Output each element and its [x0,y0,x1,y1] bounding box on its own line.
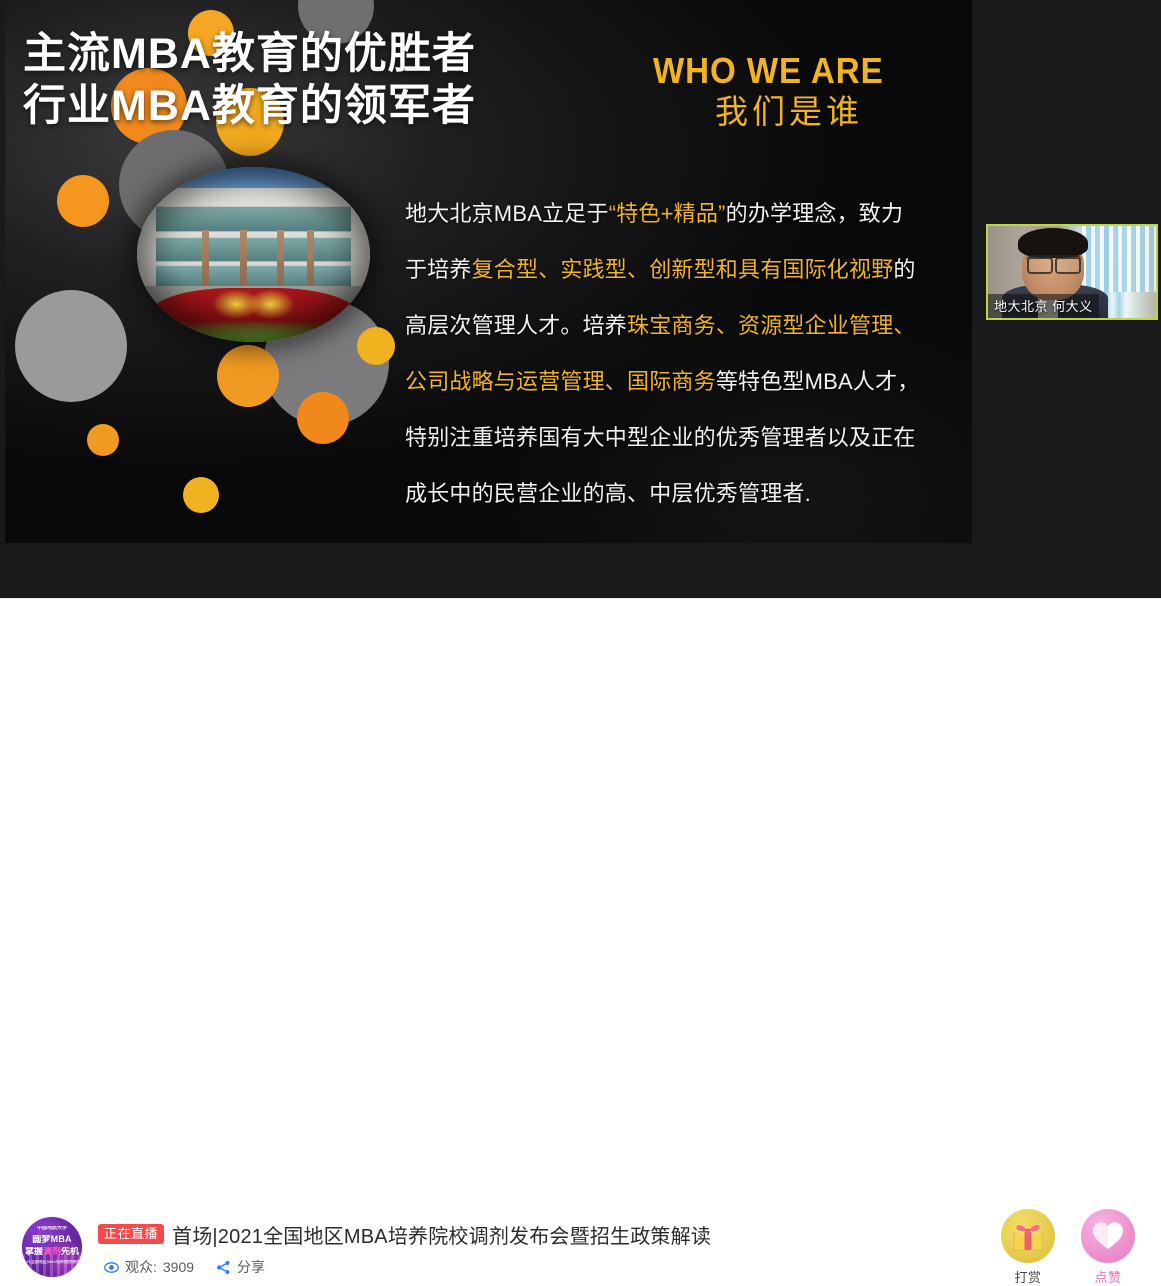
channel-avatar[interactable]: 中国地质大学 圆梦MBA 掌握调剂先机 2021全国地区MBA培养院校调剂发布会 [22,1217,82,1277]
avatar-line-3a: 掌握 [25,1247,43,1256]
headline-line-2: 行业MBA教育的领军者 [23,80,476,132]
share-label: 分享 [237,1257,265,1277]
speaker-hair [1018,228,1088,258]
photo-vignette [137,167,370,342]
decor-circle-orange-5 [217,345,279,407]
share-icon [216,1260,231,1275]
decor-circle-orange-9 [183,477,219,513]
body-line-3-run-2: 珠宝商务、资源型企业管理、 [627,313,916,338]
avatar-line-1: 中国地质大学 [22,1226,82,1231]
avatar-line-3c: 先机 [61,1247,79,1256]
like-label: 点赞 [1094,1267,1121,1286]
campus-building-photo [137,167,370,342]
body-line-1-run-2: “特色+精品” [609,201,726,226]
share-button[interactable]: 分享 [216,1257,265,1277]
avatar-line-3b: 调剂 [43,1247,61,1256]
body-line-5-run-1: 特别注重培养国有大中型企业的优秀管理者以及正在 [405,425,916,450]
speaker-glasses [1026,255,1082,270]
body-line-4-run-1: 公司战略与运营管理、国际商务 [405,369,716,394]
gift-icon [1001,1209,1055,1263]
decor-circle-orange-4 [57,175,109,227]
live-player-stage[interactable]: 主流MBA教育的优胜者 行业MBA教育的领军者 WHO WE ARE 我们是谁 … [0,0,1161,598]
slide-headline: 主流MBA教育的优胜者 行业MBA教育的领军者 [23,28,476,133]
tip-button[interactable]: 打赏 [997,1209,1059,1286]
body-line-5: 特别注重培养国有大中型企业的优秀管理者以及正在 [405,410,972,466]
stream-title[interactable]: 首场|2021全国地区MBA培养院校调剂发布会暨招生政策解读 [172,1220,711,1249]
viewer-count-label: 观众: [125,1257,157,1277]
viewer-count-value: 3909 [163,1259,194,1275]
live-status-badge: 正在直播 [98,1224,164,1244]
body-line-2-run-3: 的 [893,257,915,282]
slide-body-copy: 地大北京MBA立足于“特色+精品”的办学理念，致力于培养复合型、实践型、创新型和… [405,186,972,522]
viewer-count-item: 观众: 3909 [104,1257,194,1277]
body-line-4-run-2: 等特色型MBA人才， [716,369,920,394]
avatar-line-2: 圆梦MBA [22,1235,82,1244]
stream-info-bar: 中国地质大学 圆梦MBA 掌握调剂先机 2021全国地区MBA培养院校调剂发布会… [0,598,1161,699]
body-line-2-run-2: 复合型、实践型、创新型和具有国际化视野 [472,257,894,282]
action-buttons: 打赏 点赞 [997,1209,1139,1286]
body-line-6-run-1: 成长中的民营企业的高、中层优秀管理者. [405,481,811,506]
body-line-2-run-1: 于培养 [405,257,472,282]
stream-meta-row: 观众: 3909 分享 [104,1257,265,1277]
slide-section-title: WHO WE ARE 我们是谁 [653,52,904,134]
section-title-en: WHO WE ARE [653,52,884,90]
headline-line-1: 主流MBA教育的优胜者 [23,28,476,80]
heart-icon [1081,1209,1135,1263]
body-line-3-run-1: 高层次管理人才。培养 [405,313,627,338]
avatar-line-3: 掌握调剂先机 [22,1247,82,1256]
avatar-line-4: 2021全国地区MBA培养院校调剂发布会 [22,1260,82,1264]
body-line-1: 地大北京MBA立足于“特色+精品”的办学理念，致力 [405,186,972,242]
body-line-1-run-3: 的办学理念，致力 [726,201,904,226]
body-line-2: 于培养复合型、实践型、创新型和具有国际化视野的 [405,242,972,298]
body-line-4: 公司战略与运营管理、国际商务等特色型MBA人才， [405,354,972,410]
shared-screen-slide[interactable]: 主流MBA教育的优胜者 行业MBA教育的领军者 WHO WE ARE 我们是谁 … [5,0,972,543]
webcam-window-blinds [1082,226,1156,292]
avatar-skyline [22,1255,82,1277]
decor-circle-gray-3 [15,290,127,402]
eye-icon [104,1260,119,1275]
section-title-cn: 我们是谁 [715,90,904,135]
speaker-webcam-pip[interactable]: 地大北京 何大义 [986,224,1158,320]
decor-circle-orange-8 [87,424,119,456]
body-line-3: 高层次管理人才。培养珠宝商务、资源型企业管理、 [405,298,972,354]
speaker-name-label: 地大北京 何大义 [988,294,1099,318]
decor-circle-orange-6 [297,392,349,444]
like-button[interactable]: 点赞 [1077,1209,1139,1286]
tip-label: 打赏 [1014,1267,1041,1286]
body-line-1-run-1: 地大北京MBA立足于 [405,201,609,226]
body-line-6: 成长中的民营企业的高、中层优秀管理者. [405,466,972,522]
